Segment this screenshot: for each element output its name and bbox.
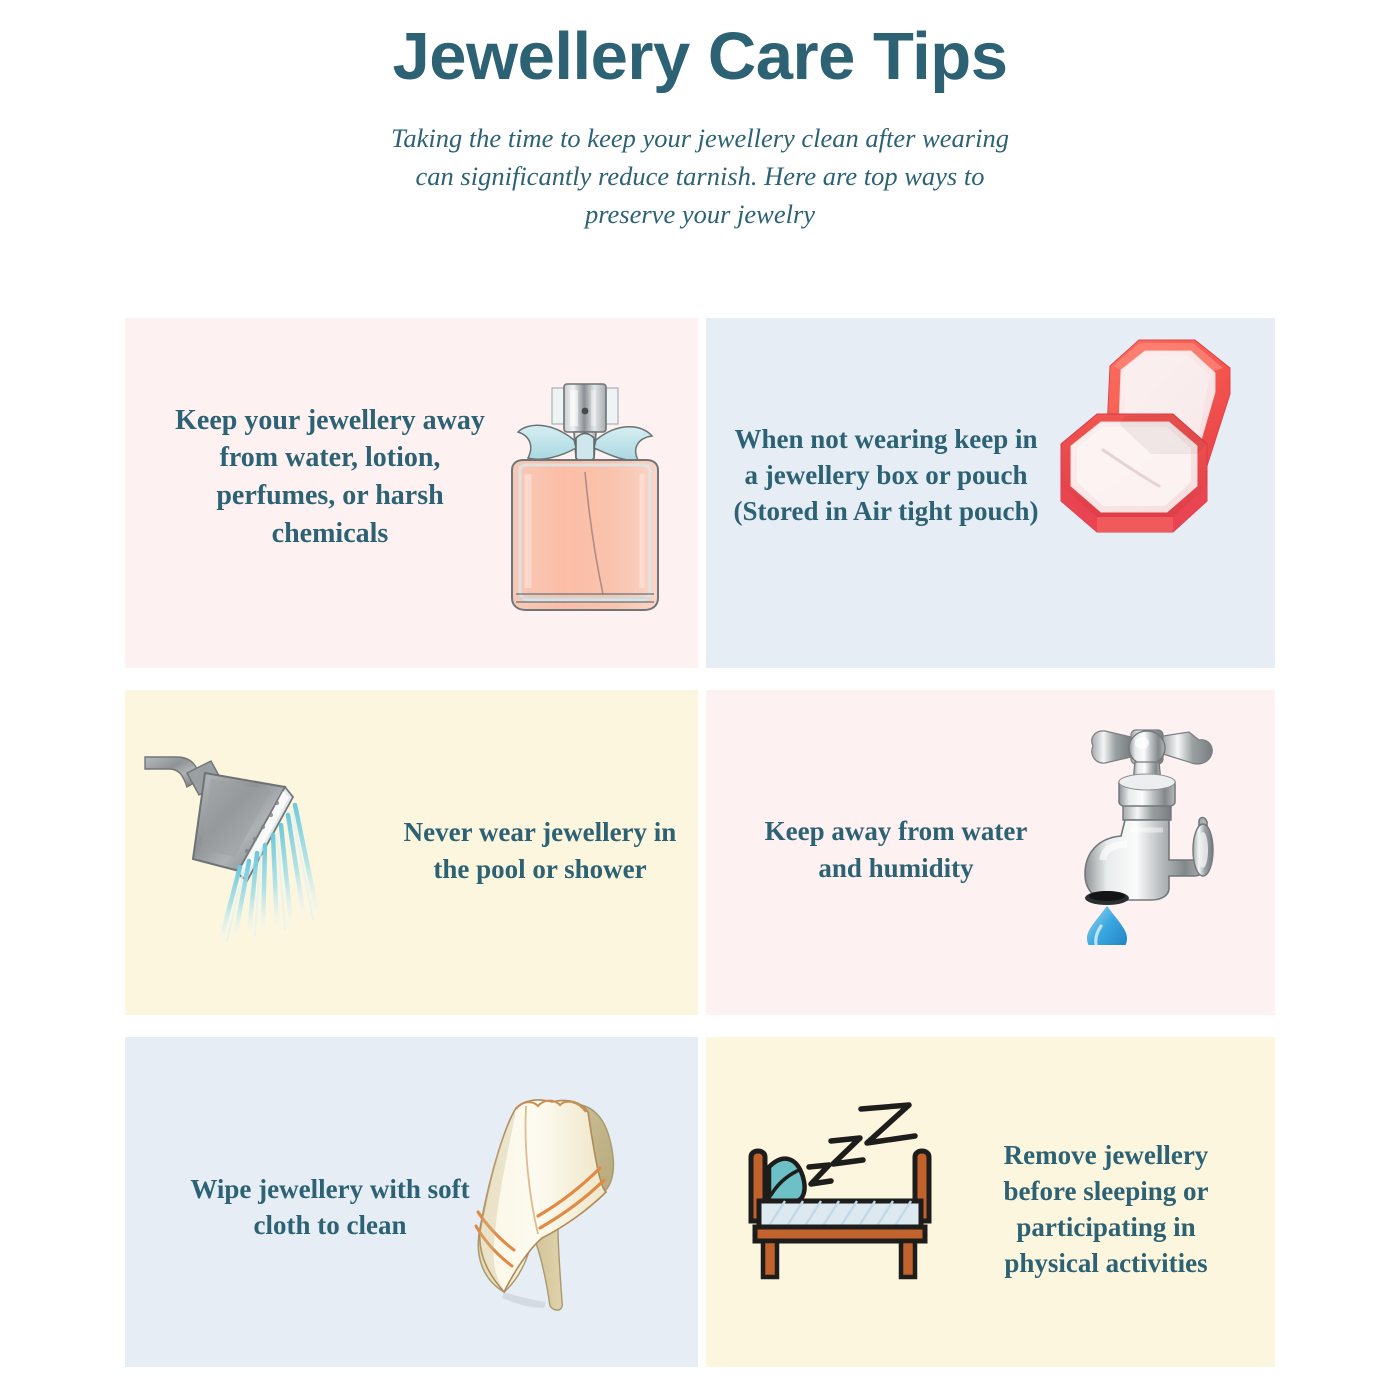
tip-card-cloth: Wipe jewellery with soft cloth to clean: [125, 1037, 698, 1367]
tip-card-bed: Remove jewellery before sleeping or part…: [706, 1037, 1275, 1367]
tip-card-jewellery-box: When not wearing keep in a jewellery box…: [706, 318, 1275, 668]
tip-card-text: Remove jewellery before sleeping or part…: [971, 1137, 1241, 1282]
header: Jewellery Care Tips Taking the time to k…: [0, 0, 1400, 233]
tip-card-text: Wipe jewellery with soft cloth to clean: [180, 1171, 480, 1243]
shower-head-icon: [143, 735, 368, 950]
bed-sleep-icon: [741, 1095, 951, 1290]
faucet-icon: [1047, 710, 1247, 945]
tip-card-perfume: Keep your jewellery away from water, lot…: [125, 318, 698, 668]
tip-card-text: When not wearing keep in a jewellery box…: [726, 421, 1046, 530]
cloth-icon: [458, 1082, 648, 1317]
tip-card-text: Never wear jewellery in the pool or show…: [390, 814, 690, 886]
perfume-bottle-icon: [490, 366, 680, 616]
tip-card-text: Keep your jewellery away from water, lot…: [160, 402, 500, 552]
page-subtitle: Taking the time to keep your jewellery c…: [390, 120, 1010, 233]
tips-grid: Keep your jewellery away from water, lot…: [125, 318, 1275, 1367]
tip-card-text: Keep away from water and humidity: [756, 813, 1036, 885]
tip-card-faucet: Keep away from water and humidity: [706, 690, 1275, 1015]
infographic-page: Jewellery Care Tips Taking the time to k…: [0, 0, 1400, 1400]
page-title: Jewellery Care Tips: [0, 22, 1400, 92]
tip-card-shower: Never wear jewellery in the pool or show…: [125, 690, 698, 1015]
jewellery-box-icon: [1055, 326, 1270, 551]
